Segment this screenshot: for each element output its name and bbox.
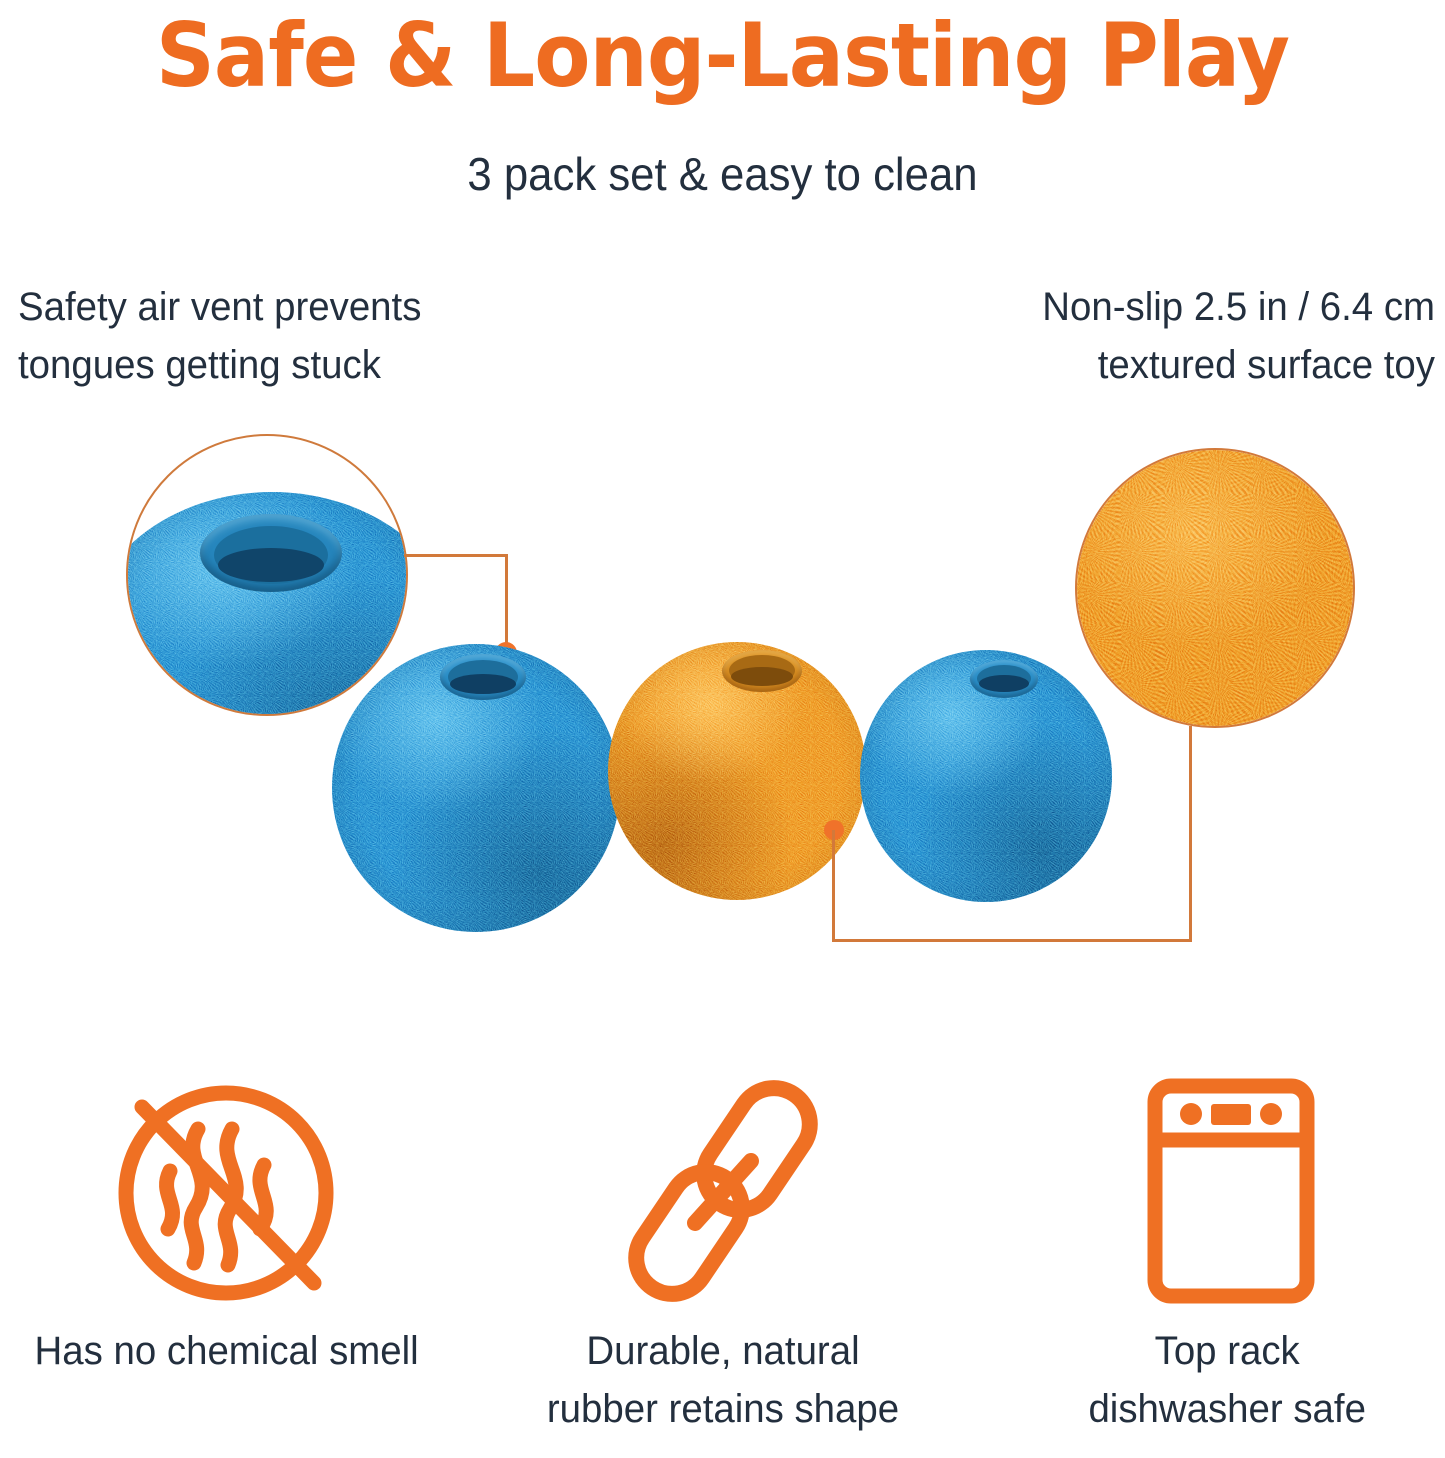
benefit-durable-caption: Durable, natural rubber retains shape — [493, 1322, 954, 1438]
benefit-durable-line1: Durable, natural — [493, 1322, 954, 1380]
ball-blue-left — [332, 644, 620, 932]
feature-caption-left-line1: Safety air vent prevents — [18, 278, 613, 336]
dishwasher-icon — [1145, 1078, 1317, 1304]
infographic-page: Safe & Long-Lasting Play 3 pack set & ea… — [0, 0, 1445, 1458]
benefit-dishwasher-caption: Top rack dishwasher safe — [978, 1322, 1439, 1438]
feature-caption-left-line2: tongues getting stuck — [18, 336, 613, 394]
feature-caption-right-line1: Non-slip 2.5 in / 6.4 cm — [821, 278, 1435, 336]
benefit-no-smell-line1: Has no chemical smell — [35, 1322, 471, 1380]
ball-orange-vent-shadow — [731, 667, 793, 686]
benefit-no-smell: Has no chemical smell — [0, 1060, 480, 1380]
vent-callout-line-horizontal — [404, 554, 508, 557]
benefit-no-smell-caption: Has no chemical smell — [10, 1322, 471, 1380]
texture-callout-line-horizontal — [832, 939, 1192, 942]
page-subtitle: 3 pack set & easy to clean — [36, 146, 1409, 202]
texture-callout-line-up — [1189, 726, 1192, 942]
benefit-durable-line2: rubber retains shape — [493, 1380, 954, 1438]
no-smell-icon — [108, 1073, 340, 1309]
benefit-dishwasher-line2: dishwasher safe — [1016, 1380, 1438, 1438]
texture-callout-line-down — [832, 830, 835, 942]
texture-magnifier-texture — [1077, 450, 1353, 726]
feature-caption-right-line2: textured surface toy — [821, 336, 1435, 394]
texture-magnifier — [1075, 448, 1355, 728]
benefits-row: Has no chemical smell Durable, — [0, 1060, 1445, 1458]
page-title: Safe & Long-Lasting Play — [51, 8, 1395, 104]
benefit-no-smell-icon-wrap — [0, 1060, 480, 1322]
feature-caption-right: Non-slip 2.5 in / 6.4 cm textured surfac… — [821, 278, 1435, 394]
product-illustration — [0, 410, 1445, 990]
ball-orange — [608, 642, 866, 900]
feature-caption-left: Safety air vent prevents tongues getting… — [18, 278, 613, 394]
ball-blue-right — [860, 650, 1112, 902]
chain-link-icon — [617, 1077, 829, 1305]
benefit-dishwasher: Top rack dishwasher safe — [968, 1060, 1445, 1438]
vent-magnifier-hole-shadow — [218, 548, 324, 582]
benefit-durable-icon-wrap — [483, 1060, 963, 1322]
benefit-dishwasher-icon-wrap — [968, 1060, 1445, 1322]
benefit-dishwasher-line1: Top rack — [1016, 1322, 1438, 1380]
vent-magnifier — [126, 434, 408, 716]
ball-blue-right-vent-shadow — [979, 675, 1029, 692]
benefit-durable: Durable, natural rubber retains shape — [483, 1060, 963, 1438]
ball-blue-left-vent-shadow — [450, 674, 516, 694]
vent-callout-line-vertical — [505, 554, 508, 650]
